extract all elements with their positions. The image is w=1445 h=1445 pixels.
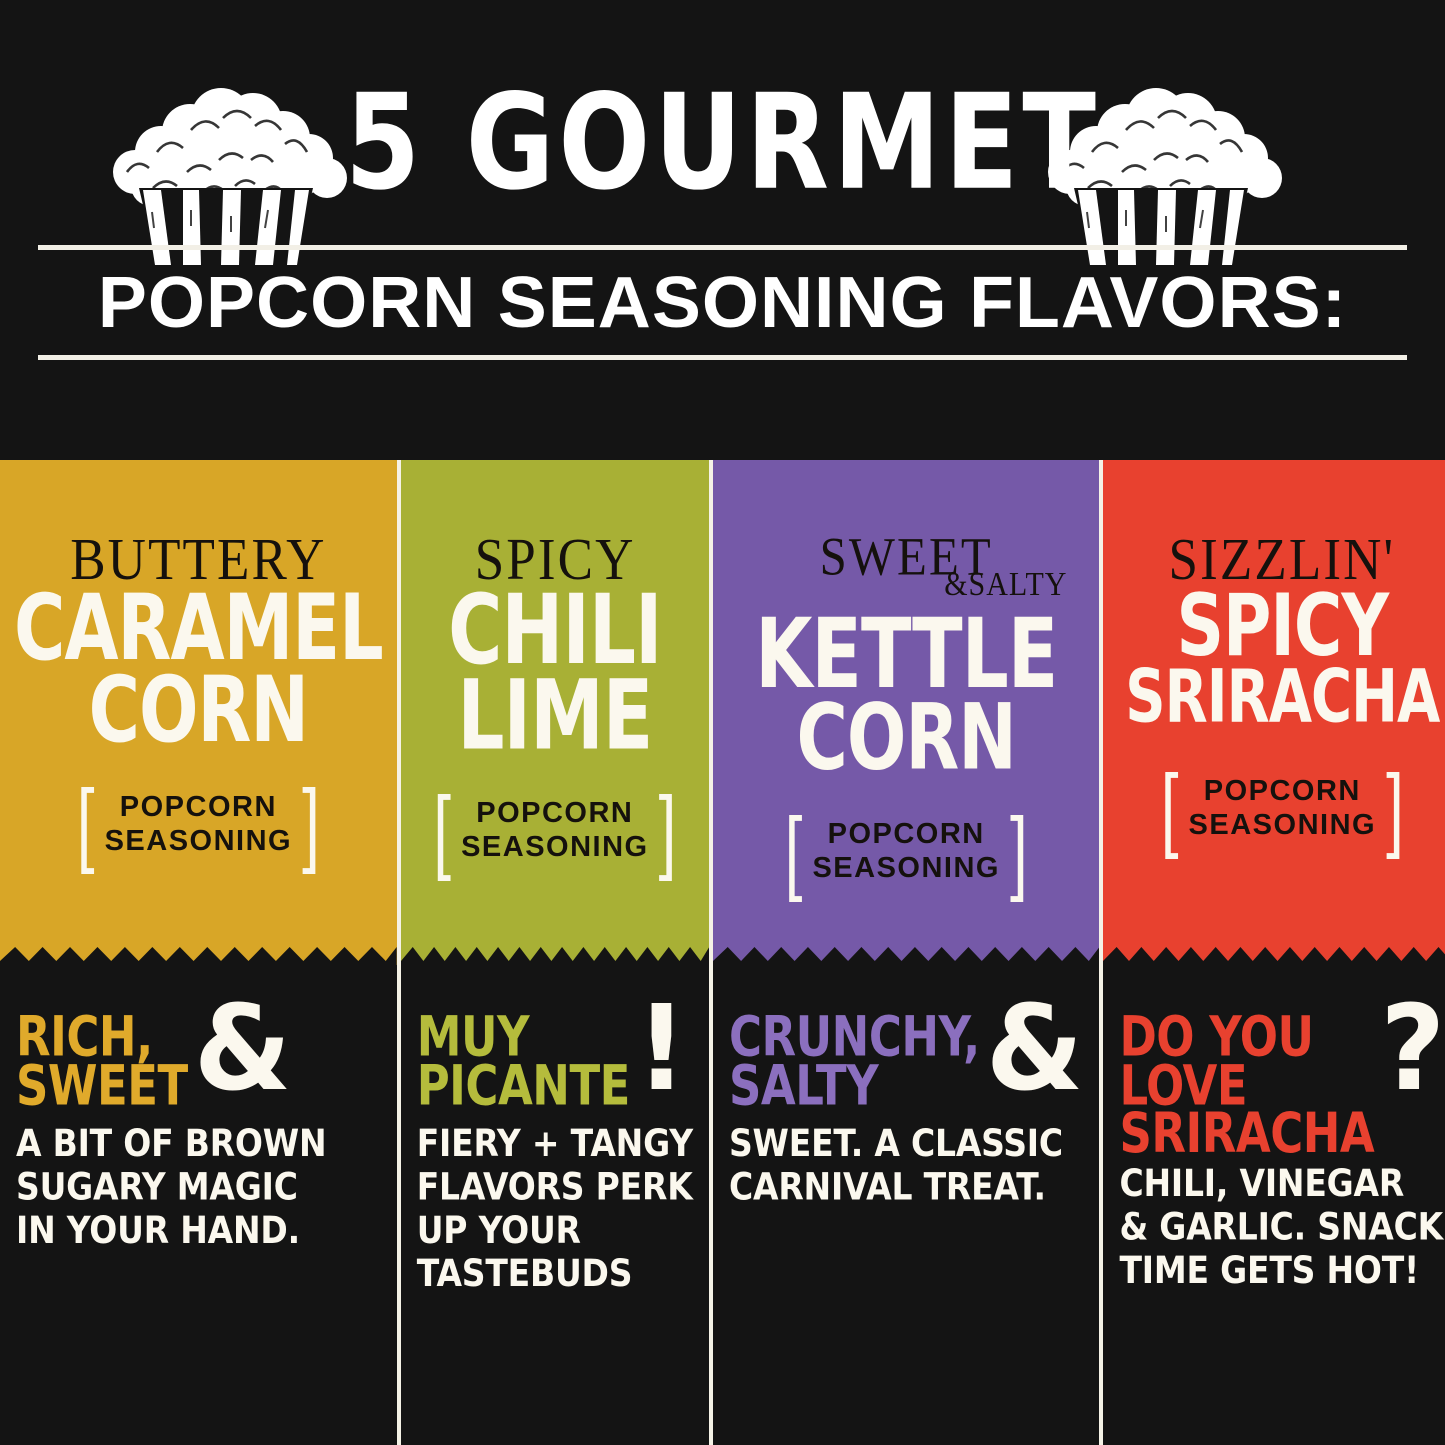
seasoning-line1: POPCORN xyxy=(120,791,277,823)
flavor-name-line2: CORN xyxy=(727,700,1085,776)
flavor-tagline: RICH, SWEET & xyxy=(16,1013,381,1092)
popcorn-seasoning-poster: 5 GOURMET POPCORN SEASONING FLAVORS: BUT… xyxy=(0,0,1445,1445)
flavor-body-line: CARNIVAL TREAT. xyxy=(729,1166,1083,1209)
bracket-close: ] xyxy=(659,793,677,867)
flavor-name-line2: CORN xyxy=(14,672,383,748)
tagline-words: RICH, SWEET xyxy=(16,1013,188,1110)
seasoning-text: POPCORN SEASONING xyxy=(461,796,649,864)
seasoning-line2: SEASONING xyxy=(812,852,1000,884)
flavor-body-text: FIERY + TANGYFLAVORS PERKUP YOURTASTEBUD… xyxy=(417,1122,693,1295)
tagline-punctuation: & xyxy=(194,1007,292,1092)
bracket-open: [ xyxy=(433,793,451,867)
seasoning-text: POPCORN SEASONING xyxy=(1189,774,1377,842)
bracket-close: ] xyxy=(1386,771,1404,845)
flavor-body-line: SWEET. A CLASSIC xyxy=(729,1122,1083,1165)
flavor-name: CHILI LIME xyxy=(415,590,695,757)
flavor-description: CRUNCHY, SALTY & SWEET. A CLASSICCARNIVA… xyxy=(713,965,1099,1198)
seasoning-line1: POPCORN xyxy=(476,797,633,829)
poster-header: 5 GOURMET POPCORN SEASONING FLAVORS: xyxy=(0,0,1445,452)
flavor-body-line: & GARLIC. SNACK xyxy=(1119,1205,1445,1248)
flavor-name-line1: CHILI xyxy=(415,590,695,671)
tagline-line2: SRIRACHA xyxy=(1119,1110,1374,1158)
flavor-body-line: FLAVORS PERK xyxy=(417,1166,693,1209)
seasoning-label: [ POPCORN SEASONING ] xyxy=(1117,774,1445,842)
flavor-body-line: SUGARY MAGIC xyxy=(16,1166,381,1209)
flavor-grid: BUTTERY CARAMEL CORN [ POPCORN SEASONING… xyxy=(0,460,1445,1445)
flavor-body-line: TIME GETS HOT! xyxy=(1119,1248,1445,1291)
tagline-punctuation: ! xyxy=(636,1007,687,1092)
flavor-column-spicy-chili-lime[interactable]: SPICY CHILI LIME [ POPCORN SEASONING ] xyxy=(397,460,709,1445)
bracket-open: [ xyxy=(77,786,95,860)
flavor-body-line: A BIT OF BROWN xyxy=(16,1122,381,1165)
flavor-name-line1: KETTLE xyxy=(727,614,1085,695)
flavor-tagline: DO YOU LOVE SRIRACHA ? xyxy=(1119,1013,1445,1132)
flavor-column-sweet-salty-kettle-corn[interactable]: SWEET &SALTY KETTLE CORN [ POPCORN SEASO… xyxy=(709,460,1099,1445)
flavor-body-text: A BIT OF BROWNSUGARY MAGICIN YOUR HAND. xyxy=(16,1122,381,1252)
flavor-description: RICH, SWEET & A BIT OF BROWNSUGARY MAGIC… xyxy=(0,965,397,1236)
bracket-close: ] xyxy=(302,786,320,860)
flavor-body-line: CHILI, VINEGAR xyxy=(1119,1162,1445,1205)
tagline-punctuation: & xyxy=(986,1007,1084,1092)
seasoning-label: [ POPCORN SEASONING ] xyxy=(415,796,695,864)
page-title: 5 GOURMET xyxy=(0,78,1445,210)
tagline-line2: PICANTE xyxy=(417,1061,630,1109)
flavor-description: MUY PICANTE ! FIERY + TANGYFLAVORS PERKU… xyxy=(401,965,709,1274)
tagline-line2: SWEET xyxy=(16,1061,188,1109)
flavor-name-line2: LIME xyxy=(415,676,695,757)
seasoning-line2: SEASONING xyxy=(1189,809,1377,841)
flavor-tagline: MUY PICANTE ! xyxy=(417,1013,693,1092)
seasoning-label: [ POPCORN SEASONING ] xyxy=(727,817,1085,885)
flavor-body-line: UP YOUR xyxy=(417,1209,693,1252)
flavor-name: SPICY SRIRACHA xyxy=(1117,590,1445,728)
flavor-name-line1: CARAMEL xyxy=(14,590,383,666)
divider-bottom xyxy=(38,355,1407,360)
flavor-body-text: CHILI, VINEGAR& GARLIC. SNACKTIME GETS H… xyxy=(1119,1162,1445,1292)
flavor-packet: SIZZLIN' SPICY SRIRACHA [ POPCORN SEASON… xyxy=(1103,460,1445,965)
flavor-column-sizzlin-spicy-sriracha[interactable]: SIZZLIN' SPICY SRIRACHA [ POPCORN SEASON… xyxy=(1099,460,1445,1445)
seasoning-text: POPCORN SEASONING xyxy=(812,817,1000,885)
flavor-name-line1: SPICY xyxy=(1117,590,1445,662)
flavor-packet: SWEET &SALTY KETTLE CORN [ POPCORN SEASO… xyxy=(713,460,1099,965)
flavor-body-line: TASTEBUDS xyxy=(417,1252,693,1295)
seasoning-line1: POPCORN xyxy=(828,818,985,850)
flavor-tagline: CRUNCHY, SALTY & xyxy=(729,1013,1083,1092)
flavor-description: DO YOU LOVE SRIRACHA ? CHILI, VINEGAR& G… xyxy=(1103,965,1445,1276)
tagline-punctuation: ? xyxy=(1380,1007,1445,1092)
page-subtitle: POPCORN SEASONING FLAVORS: xyxy=(0,258,1445,348)
flavor-body-text: SWEET. A CLASSICCARNIVAL TREAT. xyxy=(729,1122,1083,1209)
divider-top xyxy=(38,245,1407,250)
seasoning-line2: SEASONING xyxy=(461,831,649,863)
seasoning-line1: POPCORN xyxy=(1204,775,1361,807)
flavor-body-line: FIERY + TANGY xyxy=(417,1122,693,1165)
bracket-open: [ xyxy=(785,814,803,888)
flavor-column-buttery-caramel-corn[interactable]: BUTTERY CARAMEL CORN [ POPCORN SEASONING… xyxy=(0,460,397,1445)
flavor-packet: SPICY CHILI LIME [ POPCORN SEASONING ] xyxy=(401,460,709,965)
flavor-body-line: IN YOUR HAND. xyxy=(16,1209,381,1252)
tagline-words: CRUNCHY, SALTY xyxy=(729,1013,980,1110)
seasoning-line2: SEASONING xyxy=(105,825,293,857)
tagline-words: MUY PICANTE xyxy=(417,1013,630,1110)
seasoning-text: POPCORN SEASONING xyxy=(105,790,293,858)
tagline-words: DO YOU LOVE SRIRACHA xyxy=(1119,1013,1374,1158)
flavor-name: CARAMEL CORN xyxy=(14,590,383,748)
flavor-name: KETTLE CORN xyxy=(727,614,1085,776)
flavor-packet: BUTTERY CARAMEL CORN [ POPCORN SEASONING… xyxy=(0,460,397,965)
flavor-name-line2: SRIRACHA xyxy=(1117,667,1445,728)
bracket-close: ] xyxy=(1010,814,1028,888)
seasoning-label: [ POPCORN SEASONING ] xyxy=(14,790,383,858)
bracket-open: [ xyxy=(1161,771,1179,845)
